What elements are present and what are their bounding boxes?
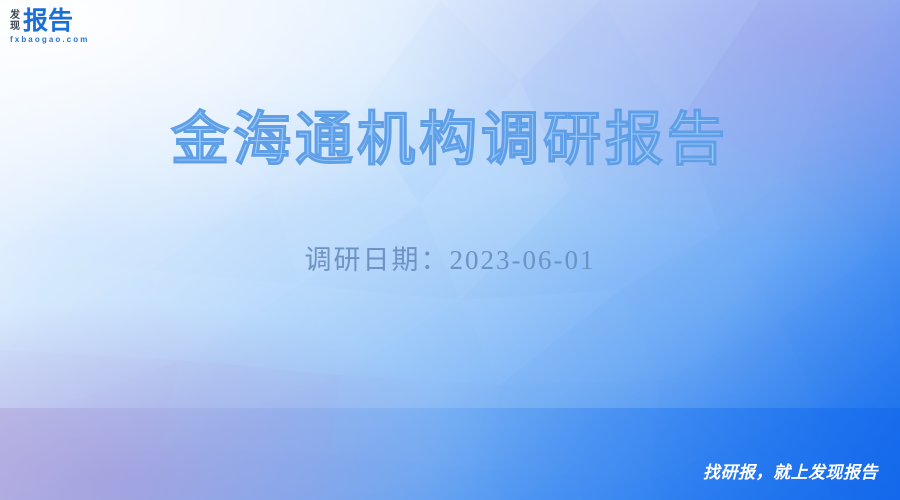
logo-mark-char-top: 发 xyxy=(10,11,20,22)
logo-mark-icon: 发 现 xyxy=(10,10,20,33)
logo-wordmark: 报告 xyxy=(23,9,73,33)
logo-wordmark-row: 发 现 报告 xyxy=(10,9,73,33)
report-cover-slide: 发 现 报告 fxbaogao.com 金海通机构调研报告 调研日期：2023-… xyxy=(0,0,900,500)
page-title: 金海通机构调研报告 xyxy=(0,92,900,176)
brand-logo[interactable]: 发 现 报告 fxbaogao.com xyxy=(10,9,89,44)
logo-mark-char-bottom: 现 xyxy=(10,22,20,33)
survey-date-subtitle: 调研日期：2023-06-01 xyxy=(0,238,900,277)
logo-url: fxbaogao.com xyxy=(10,35,89,44)
brand-slogan: 找研报，就上发现报告 xyxy=(703,458,878,483)
